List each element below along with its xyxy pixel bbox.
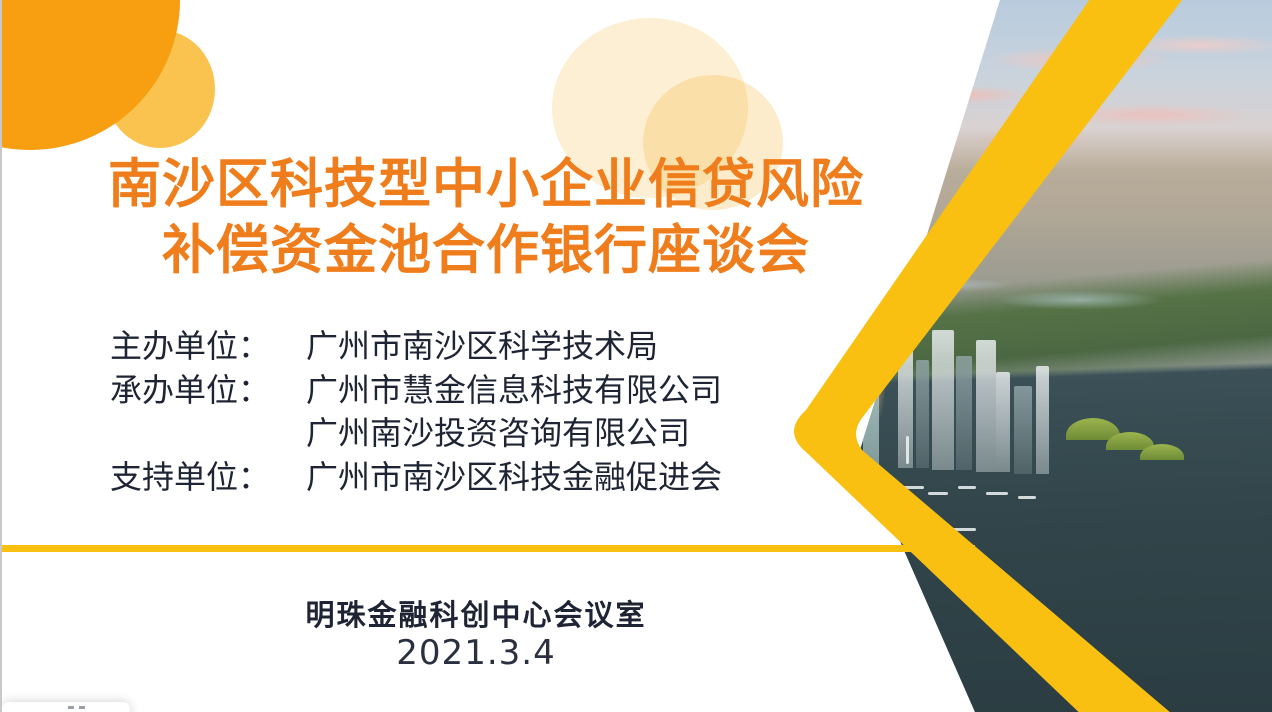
organizer-row: 支持单位： 广州市南沙区科技金融促进会 bbox=[110, 456, 830, 500]
organizer-value: 广州南沙投资咨询有限公司 bbox=[306, 412, 830, 456]
presentation-slide: 南沙区科技型中小企业信贷风险 补偿资金池合作银行座谈会 主办单位： 广州市南沙区… bbox=[0, 0, 1272, 712]
slide-title: 南沙区科技型中小企业信贷风险 补偿资金池合作银行座谈会 bbox=[56, 152, 916, 283]
panel-handle-icon bbox=[68, 706, 90, 710]
organizer-list: 主办单位： 广州市南沙区科学技术局 承办单位： 广州市慧金信息科技有限公司 广州… bbox=[110, 325, 830, 499]
organizer-label: 承办单位： bbox=[110, 369, 306, 413]
date-text: 2021.3.4 bbox=[176, 633, 776, 673]
partial-overlay-panel[interactable] bbox=[2, 702, 130, 712]
organizer-row: 承办单位： 广州市慧金信息科技有限公司 bbox=[110, 369, 830, 413]
organizer-value: 广州市南沙区科技金融促进会 bbox=[306, 456, 830, 500]
city-skyline-detail bbox=[780, 0, 1272, 712]
organizer-label: 主办单位： bbox=[110, 325, 306, 369]
window-left-border bbox=[0, 0, 2, 712]
venue-text: 明珠金融科创中心会议室 bbox=[176, 592, 776, 634]
organizer-value: 广州市南沙区科学技术局 bbox=[306, 325, 830, 369]
organizer-row: 广州南沙投资咨询有限公司 bbox=[110, 412, 830, 456]
title-line-2: 补偿资金池合作银行座谈会 bbox=[56, 218, 916, 284]
organizer-row: 主办单位： 广州市南沙区科学技术局 bbox=[110, 325, 830, 369]
horizontal-yellow-rule bbox=[0, 545, 975, 552]
title-line-1: 南沙区科技型中小企业信贷风险 bbox=[56, 152, 916, 218]
organizer-value: 广州市慧金信息科技有限公司 bbox=[306, 369, 830, 413]
organizer-label: 支持单位： bbox=[110, 456, 306, 500]
